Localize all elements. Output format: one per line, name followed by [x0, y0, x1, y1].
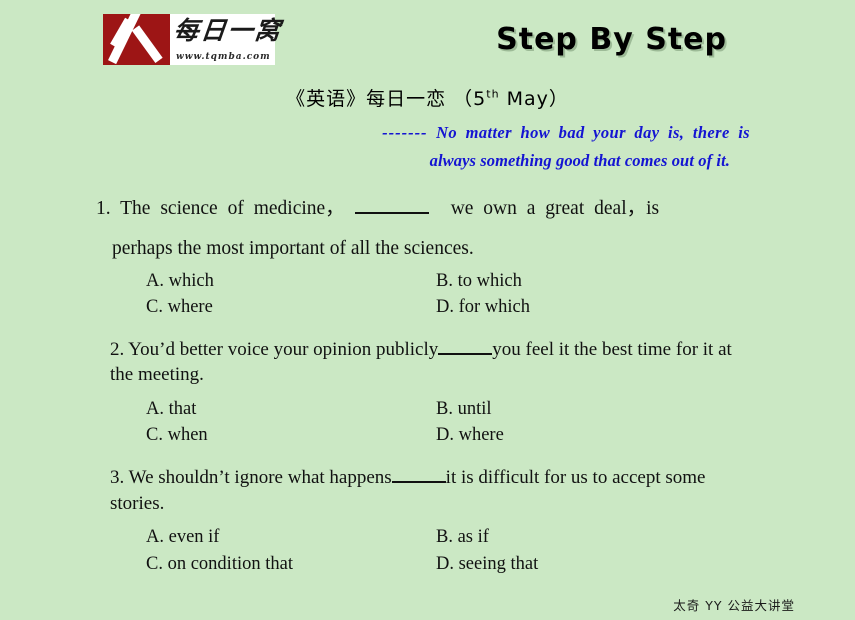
option-a[interactable]: A. which	[146, 268, 436, 294]
option-a[interactable]: A. that	[146, 396, 436, 422]
option-b[interactable]: B. as if	[436, 524, 726, 550]
person-character-logo-icon	[103, 14, 170, 65]
quote-first-line: ------- No matter how bad your day is, t…	[0, 123, 750, 143]
option-b[interactable]: B. until	[436, 396, 726, 422]
question-1-answer-blank[interactable]	[355, 198, 429, 214]
question-1: 1. The science of medicine， we own a gre…	[0, 191, 855, 260]
question-3-text: 3. We shouldn’t ignore what happensit is…	[110, 465, 737, 517]
logo-wordmark: 每日一窝 www.tqmba.com	[170, 14, 282, 65]
option-row: C. on condition that D. seeing that	[146, 551, 855, 577]
option-c[interactable]: C. when	[146, 422, 436, 448]
option-a[interactable]: A. even if	[146, 524, 436, 550]
question-2: 2. You’d better voice your opinion publi…	[0, 337, 855, 389]
quote-second-line: always something good that comes out of …	[0, 151, 750, 171]
option-d[interactable]: D. seeing that	[436, 551, 726, 577]
quote-text-line-1: No matter how bad your day is, there is	[436, 123, 750, 142]
question-2-text-before: 2. You’d better voice your opinion publi…	[110, 339, 438, 360]
quote-dashes: -------	[382, 123, 427, 142]
subtitle-prefix: 《英语》每日一恋 （5	[286, 88, 486, 110]
option-c[interactable]: C. where	[146, 294, 436, 320]
option-row: C. where D. for which	[146, 294, 855, 320]
page-title: Step By Step	[496, 22, 727, 57]
question-2-options: A. that B. until C. when D. where	[0, 396, 855, 449]
question-1-options: A. which B. to which C. where D. for whi…	[0, 268, 855, 321]
page-header: 每日一窝 www.tqmba.com Step By Step	[0, 0, 855, 78]
option-row: A. which B. to which	[146, 268, 855, 294]
option-row: A. that B. until	[146, 396, 855, 422]
question-1-line-1: 1. The science of medicine， we own a gre…	[96, 191, 737, 220]
option-d[interactable]: D. where	[436, 422, 726, 448]
daily-quote: ------- No matter how bad your day is, t…	[0, 123, 855, 171]
subtitle-suffix: May）	[500, 88, 569, 110]
question-3-text-before: 3. We shouldn’t ignore what happens	[110, 467, 392, 488]
question-list: 1. The science of medicine， we own a gre…	[0, 191, 855, 577]
question-3-options: A. even if B. as if C. on condition that…	[0, 524, 855, 577]
brand-logo: 每日一窝 www.tqmba.com	[103, 14, 275, 65]
question-1-text-before: 1. The science of medicine，	[96, 191, 345, 220]
option-c[interactable]: C. on condition that	[146, 551, 436, 577]
option-b[interactable]: B. to which	[436, 268, 726, 294]
question-2-answer-blank[interactable]	[438, 340, 492, 355]
subtitle-line: 《英语》每日一恋 （5th May）	[0, 84, 855, 111]
option-row: C. when D. where	[146, 422, 855, 448]
logo-chinese-text: 每日一窝	[172, 14, 283, 43]
footer-credit: 太奇 YY 公益大讲堂	[673, 595, 795, 614]
logo-stroke-diagonal	[132, 25, 163, 63]
question-3: 3. We shouldn’t ignore what happensit is…	[0, 465, 855, 517]
question-2-text: 2. You’d better voice your opinion publi…	[110, 337, 737, 389]
subtitle-ordinal-suffix: th	[486, 88, 499, 101]
logo-url-text: www.tqmba.com	[176, 52, 271, 62]
option-d[interactable]: D. for which	[436, 294, 726, 320]
question-1-text-after: we own a great deal，is	[451, 191, 659, 220]
option-row: A. even if B. as if	[146, 524, 855, 550]
question-3-answer-blank[interactable]	[392, 468, 446, 483]
question-1-line-2: perhaps the most important of all the sc…	[96, 238, 737, 260]
